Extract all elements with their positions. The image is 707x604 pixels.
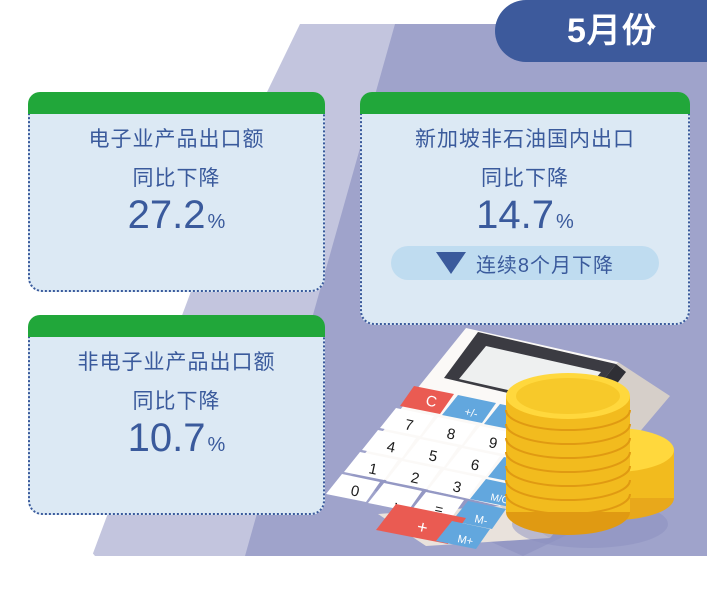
card-non-electronics: 非电子业产品出口额 同比下降 10.7 % — [28, 315, 325, 515]
coin-top-inner — [516, 378, 620, 414]
card-electronics-unit: % — [208, 212, 226, 232]
card-nodx-badge-label: 连续8个月下降 — [476, 249, 614, 278]
card-nodx-title: 新加坡非石油国内出口 — [415, 128, 635, 151]
card-electronics-subtitle: 同比下降 — [133, 167, 221, 190]
card-non-electronics-unit: % — [208, 435, 226, 455]
card-non-electronics-value-group: 10.7 % — [128, 417, 226, 459]
card-electronics-value: 27.2 — [128, 194, 206, 236]
calculator-svg: C +/- % √ 7 8 9 * — [318, 300, 707, 580]
card-non-electronics-subtitle: 同比下降 — [133, 390, 221, 413]
card-nodx-unit: % — [556, 212, 574, 232]
card-electronics-body: 电子业产品出口额 同比下降 27.2 % — [28, 108, 325, 292]
card-electronics-title: 电子业产品出口额 — [89, 128, 265, 151]
card-nodx-value: 14.7 — [476, 194, 554, 236]
infographic-canvas: 5月份 电子业产品出口额 同比下降 27.2 % 新加坡非石油国内出口 同比下降… — [0, 0, 707, 604]
calculator-key-mplus-label: M+ — [456, 533, 474, 548]
month-tab: 5月份 — [495, 0, 707, 62]
card-electronics-cap — [28, 92, 325, 114]
coin-column-front — [506, 373, 630, 535]
triangle-down-icon — [436, 252, 466, 274]
card-nodx-subtitle: 同比下降 — [481, 167, 569, 190]
calculator-and-coins-illustration: C +/- % √ 7 8 9 * — [318, 300, 707, 580]
card-non-electronics-body: 非电子业产品出口额 同比下降 10.7 % — [28, 331, 325, 515]
card-non-electronics-title: 非电子业产品出口额 — [78, 351, 276, 374]
card-electronics-value-group: 27.2 % — [128, 194, 226, 236]
month-label: 5月份 — [567, 14, 657, 48]
card-electronics: 电子业产品出口额 同比下降 27.2 % — [28, 92, 325, 292]
card-nodx-value-group: 14.7 % — [476, 194, 574, 236]
card-nodx: 新加坡非石油国内出口 同比下降 14.7 % 连续8个月下降 — [360, 92, 690, 325]
card-nodx-badge: 连续8个月下降 — [391, 246, 659, 280]
card-non-electronics-cap — [28, 315, 325, 337]
card-nodx-body: 新加坡非石油国内出口 同比下降 14.7 % 连续8个月下降 — [360, 108, 690, 325]
card-nodx-cap — [360, 92, 690, 114]
card-non-electronics-value: 10.7 — [128, 417, 206, 459]
